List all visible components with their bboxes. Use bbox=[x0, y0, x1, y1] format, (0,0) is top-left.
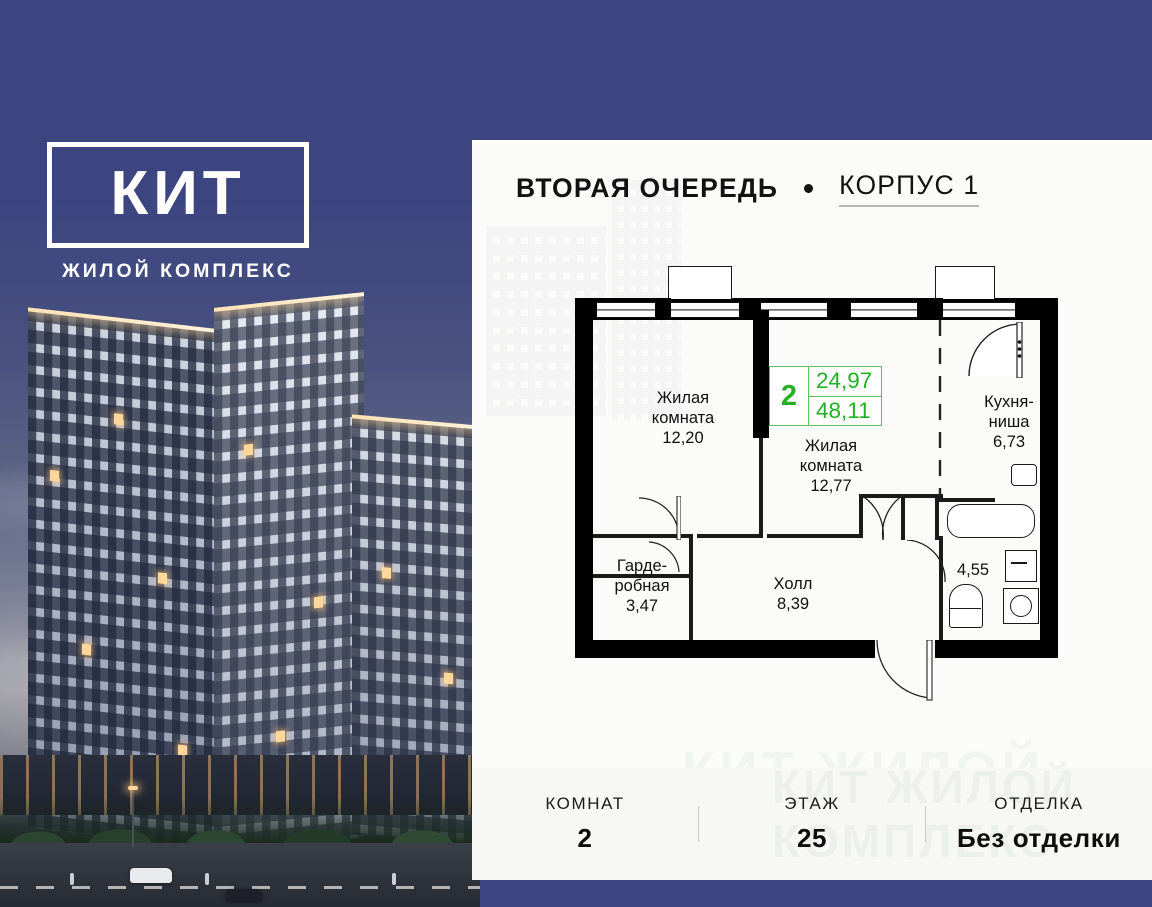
room-line2: робная bbox=[614, 577, 669, 595]
logo-title: КИТ bbox=[52, 163, 304, 225]
badge-total-area: 48,11 bbox=[809, 397, 881, 426]
room-area: 3,47 bbox=[593, 596, 691, 616]
balcony-bay-left bbox=[668, 266, 732, 299]
area-badge: 2 24,97 48,11 bbox=[769, 366, 882, 426]
door-kitchen bbox=[967, 322, 1023, 378]
sink-bathroom-line bbox=[949, 608, 981, 609]
room-line1: Кухня- bbox=[984, 393, 1034, 411]
room-label-hall: Холл 8,39 bbox=[745, 574, 841, 614]
window-living-1b bbox=[671, 302, 739, 318]
building-title: КОРПУС 1 bbox=[839, 170, 979, 207]
room-label-living-2: Жилая комната 12,77 bbox=[775, 436, 887, 496]
pier-2 bbox=[827, 298, 851, 320]
wall-living2-hall bbox=[759, 438, 763, 538]
logo-tagline: ЖИЛОЙ КОМПЛЕКС bbox=[47, 260, 309, 283]
window-living-1a bbox=[597, 302, 655, 318]
badge-areas: 24,97 48,11 bbox=[808, 367, 881, 425]
wall-bath-right-stub bbox=[939, 498, 995, 502]
separator-dot bbox=[804, 184, 813, 193]
room-label-bathroom: 4,55 bbox=[941, 560, 1005, 580]
room-line1: Холл bbox=[774, 575, 813, 593]
balcony-bay-right bbox=[935, 266, 995, 299]
spec-footer: КИТ ЖИЛОЙ КОМПЛЕКС КОМНАТ 2 ЭТАЖ 25 ОТДЕ… bbox=[472, 768, 1152, 880]
spec-label: КОМНАТ bbox=[472, 794, 698, 814]
floorplan-card: КИТ ЖИЛОЙ КОМПЛЕКС КИТ ЖИЛОЙ КОМПЛЕКС ВТ… bbox=[0, 0, 1152, 907]
washer-door bbox=[1011, 562, 1027, 564]
room-line2: комната bbox=[652, 409, 714, 427]
spec-label: ЭТАЖ bbox=[699, 794, 925, 814]
sink-kitchen bbox=[1011, 464, 1037, 486]
toilet-bowl bbox=[1010, 595, 1032, 617]
spec-label: ОТДЕЛКА bbox=[926, 794, 1152, 814]
wall-bottom-left bbox=[575, 640, 875, 658]
washer bbox=[1005, 550, 1037, 582]
room-label-kitchen-niche: Кухня- ниша 6,73 bbox=[963, 392, 1055, 452]
sink-bathroom bbox=[949, 584, 983, 628]
room-area: 12,20 bbox=[627, 428, 739, 448]
door-entrance bbox=[875, 640, 935, 702]
pier-1 bbox=[655, 298, 671, 320]
kitchen-niche-dashed-divider bbox=[937, 320, 943, 496]
badge-room-count: 2 bbox=[770, 367, 808, 425]
trees bbox=[0, 797, 480, 845]
spec-finishing: ОТДЕЛКА Без отделки bbox=[926, 794, 1152, 854]
bathtub bbox=[947, 504, 1035, 538]
pier-3 bbox=[917, 298, 943, 320]
room-label-living-1: Жилая комната 12,20 bbox=[627, 388, 739, 448]
wall-left bbox=[575, 298, 593, 658]
room-label-wardrobe: Гарде- робная 3,47 bbox=[593, 556, 691, 616]
wall-right bbox=[1040, 298, 1058, 658]
floor-plan-drawing: Жилая комната 12,20 Жилая комната 12,77 … bbox=[575, 288, 1058, 663]
spec-floor: ЭТАЖ 25 bbox=[699, 794, 925, 854]
building-render-image: КИТ ЖИЛОЙ КОМПЛЕКС bbox=[0, 0, 480, 907]
door-hall-double bbox=[843, 494, 919, 542]
brand-logo: КИТ ЖИЛОЙ КОМПЛЕКС bbox=[47, 142, 309, 283]
car bbox=[226, 889, 262, 901]
room-line1: Жилая bbox=[657, 389, 709, 407]
logo-frame: КИТ bbox=[47, 142, 309, 248]
spec-value: Без отделки bbox=[926, 823, 1152, 854]
room-area: 6,73 bbox=[963, 432, 1055, 452]
partition-vertical-main bbox=[753, 310, 769, 438]
room-line2: комната bbox=[800, 457, 862, 475]
room-area: 8,39 bbox=[745, 594, 841, 614]
spec-value: 2 bbox=[472, 823, 698, 854]
stage-title: ВТОРАЯ ОЧЕРЕДЬ bbox=[516, 173, 778, 204]
room-line2: ниша bbox=[989, 413, 1030, 431]
spec-value: 25 bbox=[699, 823, 925, 854]
room-line1: Жилая bbox=[805, 437, 857, 455]
badge-living-area: 24,97 bbox=[809, 367, 881, 397]
panel-header: ВТОРАЯ ОЧЕРЕДЬ КОРПУС 1 bbox=[472, 140, 1152, 236]
plan-panel: КИТ ЖИЛОЙ КОМПЛЕКС ВТОРАЯ ОЧЕРЕДЬ КОРПУС… bbox=[472, 140, 1152, 768]
wall-bottom-right bbox=[930, 640, 1040, 658]
window-kitchen bbox=[851, 302, 917, 318]
window-living-2 bbox=[761, 302, 827, 318]
spec-rooms: КОМНАТ 2 bbox=[472, 794, 698, 854]
window-kitchen-2 bbox=[943, 302, 1015, 318]
room-area: 12,77 bbox=[775, 476, 887, 496]
room-area: 4,55 bbox=[941, 560, 1005, 580]
wall-hall-top bbox=[697, 534, 763, 538]
door-living-1 bbox=[637, 496, 681, 540]
car bbox=[130, 868, 172, 883]
room-line1: Гарде- bbox=[617, 557, 667, 575]
